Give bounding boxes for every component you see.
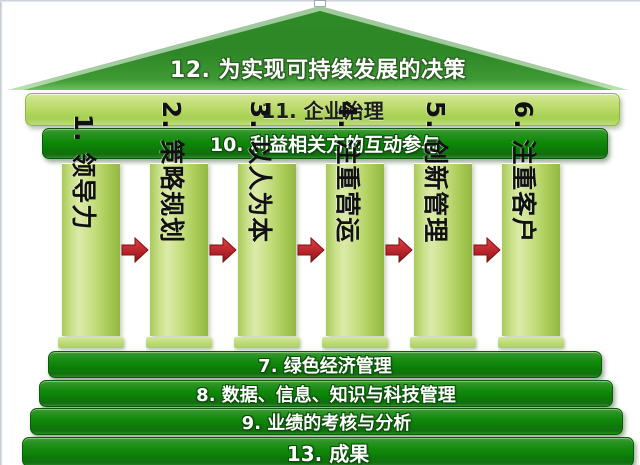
bar-results[interactable]: 13. 成果 — [22, 437, 634, 465]
right-arrow-icon-1-2 — [121, 236, 149, 264]
right-arrow-icon-5-6 — [473, 236, 501, 264]
bar-label-9: 9. 业绩的考核与分析 — [242, 409, 412, 435]
pillar-leadership[interactable]: 1. 领导力 — [62, 163, 120, 336]
page-left-border — [0, 0, 3, 465]
right-arrow-icon-2-3 — [209, 236, 237, 264]
bar-label-13: 13. 成果 — [287, 438, 369, 465]
pillar-label-2: 2. 策略规划 — [155, 101, 191, 244]
pillar-innovation-management[interactable]: 5. 创新管理 — [414, 163, 472, 336]
pillar-label-4: 4. 注重营运 — [331, 101, 367, 244]
pillar-label-3: 3. 以人为本 — [243, 101, 279, 244]
bar-label-8: 8. 数据、信息、知识与科技管理 — [196, 381, 456, 407]
bar-data-info-knowledge-tech[interactable]: 8. 数据、信息、知识与科技管理 — [39, 380, 613, 407]
diagram-canvas: 12. 为实现可持续发展的决策 11. 企业治理 10. 利益相关方的互动参与 … — [0, 0, 640, 465]
pillar-base-6 — [498, 337, 564, 348]
roof-title: 12. 为实现可持续发展的决策 — [8, 52, 628, 84]
right-arrow-icon-3-4 — [297, 236, 325, 264]
pillar-base-2 — [146, 337, 212, 348]
pillar-customer-focus[interactable]: 6. 注重客户 — [502, 163, 560, 336]
right-arrow-icon-4-5 — [385, 236, 413, 264]
roof-pediment: 12. 为实现可持续发展的决策 — [8, 6, 628, 92]
pillar-strategic-planning[interactable]: 2. 策略规划 — [150, 163, 208, 336]
pillar-operations-focus[interactable]: 4. 注重营运 — [326, 163, 384, 336]
pillar-base-5 — [410, 337, 476, 348]
pillar-base-4 — [322, 337, 388, 348]
bar-green-economy-management[interactable]: 7. 绿色经济管理 — [48, 351, 602, 378]
pillar-people-oriented[interactable]: 3. 以人为本 — [238, 163, 296, 336]
bar-performance-review-analysis[interactable]: 9. 业绩的考核与分析 — [30, 408, 623, 435]
pillar-base-3 — [234, 337, 300, 348]
bar-label-7: 7. 绿色经济管理 — [258, 352, 392, 378]
pillar-label-1: 1. 领导力 — [67, 114, 103, 231]
pillar-label-5: 5. 创新管理 — [419, 101, 455, 244]
pillar-base-1 — [58, 337, 124, 348]
pillar-label-6: 6. 注重客户 — [507, 101, 543, 244]
